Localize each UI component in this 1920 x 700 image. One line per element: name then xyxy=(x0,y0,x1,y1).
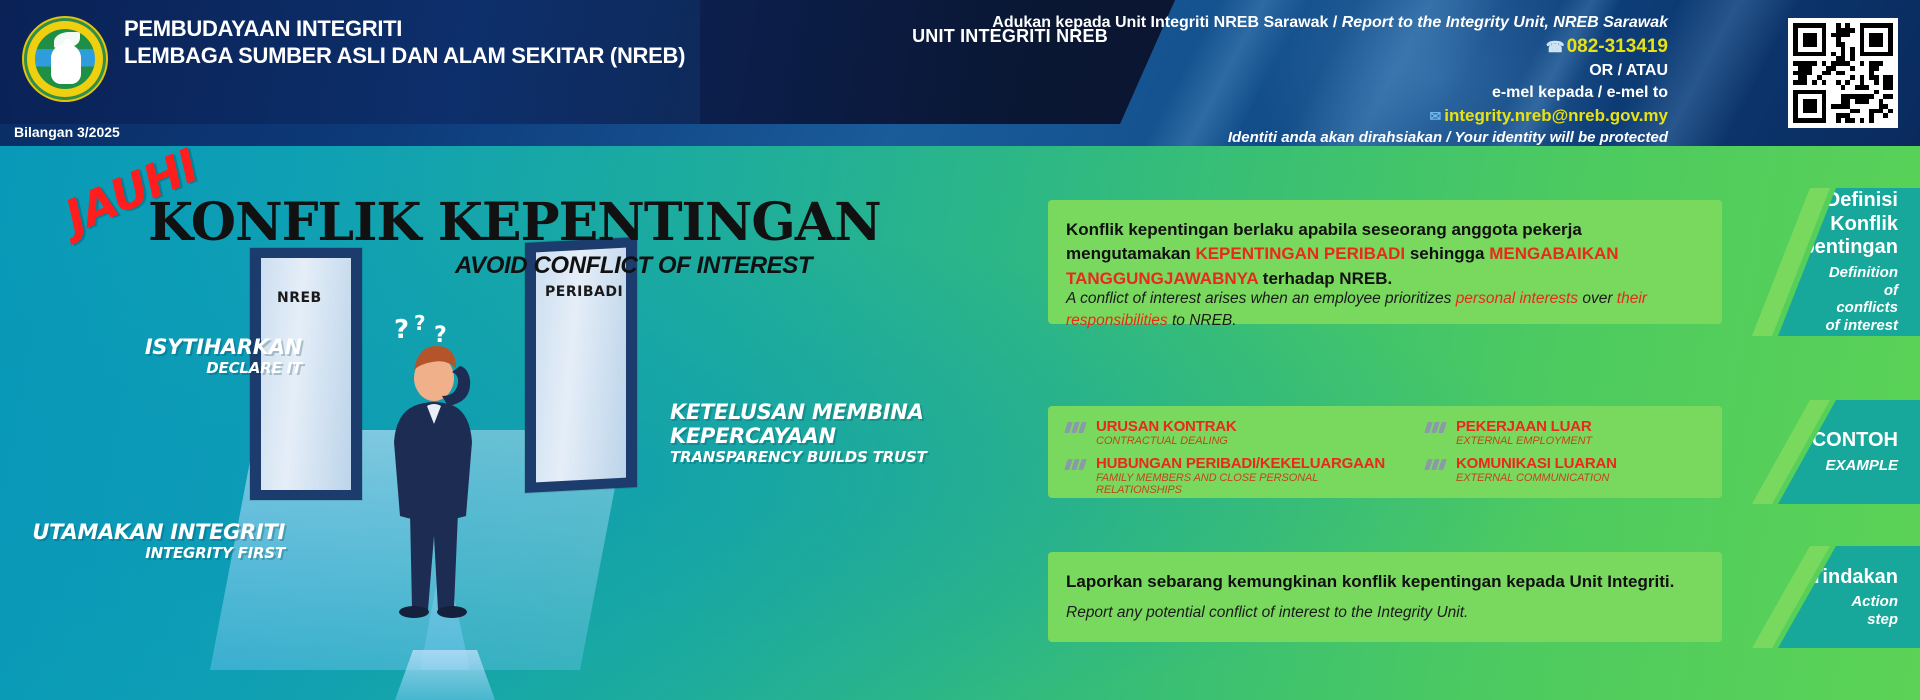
poster-header: PEMBUDAYAAN INTEGRITI LEMBAGA SUMBER ASL… xyxy=(0,0,1920,146)
example-card: URUSAN KONTRAK CONTRACTUAL DEALING HUBUN… xyxy=(1048,406,1722,498)
issue-number: Bilangan 3/2025 xyxy=(14,124,120,140)
definition-ms-part2: sehingga xyxy=(1405,244,1489,263)
example-item-en: CONTRACTUAL DEALING xyxy=(1096,435,1406,447)
svg-text:?: ? xyxy=(434,323,447,348)
callout-integrity-ms: UTAMAKAN INTEGRITI xyxy=(30,520,285,544)
example-tag-en: EXAMPLE xyxy=(1825,457,1898,475)
definition-ms-part3: terhadap NREB. xyxy=(1258,269,1392,288)
definition-en-part1: A conflict of interest arises when an em… xyxy=(1066,290,1456,307)
svg-text:?: ? xyxy=(394,315,409,345)
callout-integrity-en: INTEGRITY FIRST xyxy=(30,544,285,562)
action-body-ms: Laporkan sebarang kemungkinan konflik ke… xyxy=(1066,572,1706,592)
callout-transparency-en: TRANSPARENCY BUILDS TRUST xyxy=(670,448,970,466)
callout-transparency-ms: KETELUSAN MEMBINA KEPERCAYAAN xyxy=(670,400,970,448)
example-item: URUSAN KONTRAK CONTRACTUAL DEALING xyxy=(1066,418,1406,447)
report-line-ms: Adukan kepada Unit Integriti NREB Sarawa… xyxy=(992,14,1328,31)
contact-email[interactable]: ✉integrity.nreb@nreb.gov.my xyxy=(928,104,1668,127)
email-address: integrity.nreb@nreb.gov.my xyxy=(1444,106,1668,125)
example-item-en: EXTERNAL COMMUNICATION xyxy=(1456,472,1716,484)
contact-or-label: OR / ATAU xyxy=(928,60,1668,82)
report-line: Adukan kepada Unit Integriti NREB Sarawa… xyxy=(928,12,1668,34)
org-title-line2: LEMBAGA SUMBER ASLI DAN ALAM SEKITAR (NR… xyxy=(124,43,685,70)
callout-declare-en: DECLARE IT xyxy=(92,359,302,377)
definition-en-highlight1: personal interests xyxy=(1456,290,1578,307)
person-illustration: ? ? ? xyxy=(352,310,542,640)
example-item-en: FAMILY MEMBERS AND CLOSE PERSONAL RELATI… xyxy=(1096,472,1406,496)
example-column-left: URUSAN KONTRAK CONTRACTUAL DEALING HUBUN… xyxy=(1066,418,1406,504)
example-item-ms: KOMUNIKASI LUARAN xyxy=(1456,455,1716,472)
example-item-ms: URUSAN KONTRAK xyxy=(1096,418,1406,435)
svg-text:?: ? xyxy=(414,311,426,335)
callout-integrity: UTAMAKAN INTEGRITI INTEGRITY FIRST xyxy=(30,520,285,562)
privacy-note: Identiti anda akan dirahsiakan / Your id… xyxy=(928,128,1668,146)
header-title-block: PEMBUDAYAAN INTEGRITI LEMBAGA SUMBER ASL… xyxy=(124,16,685,70)
definition-body-ms: Konflik kepentingan berlaku apabila sese… xyxy=(1066,218,1706,291)
definition-ms-highlight1: KEPENTINGAN PERIBADI xyxy=(1195,244,1405,263)
example-item: PEKERJAAN LUAR EXTERNAL EMPLOYMENT xyxy=(1426,418,1716,447)
callout-declare-ms: ISYTIHARKAN xyxy=(92,335,302,359)
definition-tag-en: Definition of conflicts of interest xyxy=(1824,264,1898,335)
action-tag-en: Action step xyxy=(1824,593,1898,628)
arrows-icon xyxy=(1066,422,1088,433)
example-item-ms: HUBUNGAN PERIBADI/KEKELUARGAAN xyxy=(1096,455,1406,472)
qr-code-icon[interactable] xyxy=(1788,18,1898,128)
door-peribadi-panel xyxy=(536,248,626,483)
page-title: KONFLIK KEPENTINGAN xyxy=(148,192,881,253)
example-item-ms: PEKERJAAN LUAR xyxy=(1456,418,1716,435)
definition-en-part3: to NREB. xyxy=(1168,312,1237,329)
example-tag-ms: CONTOH xyxy=(1812,429,1898,453)
definition-card: Konflik kepentingan berlaku apabila sese… xyxy=(1048,200,1722,324)
action-card: Laporkan sebarang kemungkinan konflik ke… xyxy=(1048,552,1722,642)
action-tag-ms: Tindakan xyxy=(1811,566,1898,590)
phone-icon: ☎ xyxy=(1546,39,1565,56)
door-nreb-label: NREB xyxy=(277,290,322,306)
arrows-icon xyxy=(1066,459,1088,470)
door-peribadi-label: PERIBADI xyxy=(545,284,623,300)
example-item: KOMUNIKASI LUARAN EXTERNAL COMMUNICATION xyxy=(1426,455,1716,484)
definition-en-part2: over xyxy=(1578,290,1617,307)
org-title-line1: PEMBUDAYAAN INTEGRITI xyxy=(124,16,685,43)
example-item: HUBUNGAN PERIBADI/KEKELUARGAAN FAMILY ME… xyxy=(1066,455,1406,496)
example-item-en: EXTERNAL EMPLOYMENT xyxy=(1456,435,1716,447)
callout-declare: ISYTIHARKAN DECLARE IT xyxy=(92,335,302,377)
report-line-en: Report to the Integrity Unit, NREB Saraw… xyxy=(1342,14,1668,31)
header-contact-block: Adukan kepada Unit Integriti NREB Sarawa… xyxy=(928,12,1668,146)
action-body-en: Report any potential conflict of interes… xyxy=(1066,604,1706,622)
callout-transparency: KETELUSAN MEMBINA KEPERCAYAAN TRANSPAREN… xyxy=(670,400,970,466)
phone-number: 082-313419 xyxy=(1567,36,1668,57)
mail-icon: ✉ xyxy=(1430,108,1442,124)
contact-phone[interactable]: ☎082-313419 xyxy=(928,34,1668,60)
email-label: e-mel kepada / e-mel to xyxy=(928,82,1668,104)
qr-code-grid xyxy=(1793,23,1893,123)
infographic-poster: PEMBUDAYAAN INTEGRITI LEMBAGA SUMBER ASL… xyxy=(0,0,1920,700)
arrows-icon xyxy=(1426,459,1448,470)
page-subtitle: AVOID CONFLICT OF INTEREST xyxy=(455,252,812,280)
definition-body-en: A conflict of interest arises when an em… xyxy=(1066,288,1686,332)
example-column-right: PEKERJAAN LUAR EXTERNAL EMPLOYMENT KOMUN… xyxy=(1426,418,1716,492)
report-line-separator: / xyxy=(1333,14,1337,31)
arrows-icon xyxy=(1426,422,1448,433)
nreb-logo-icon xyxy=(22,16,108,102)
